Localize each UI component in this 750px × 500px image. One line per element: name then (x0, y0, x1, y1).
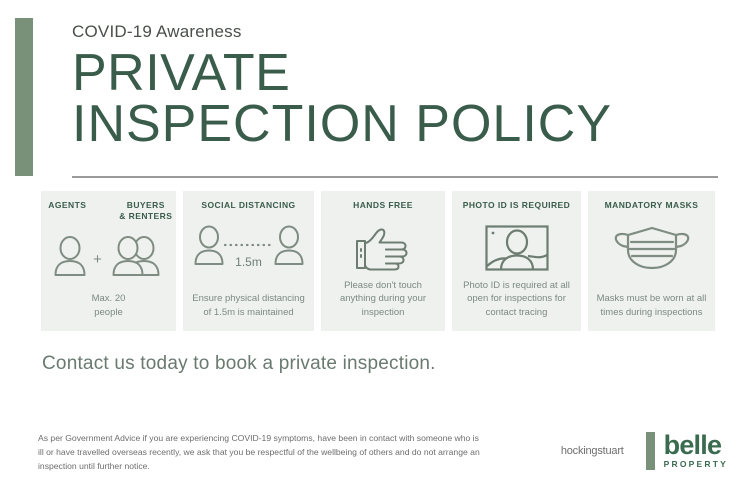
footer-disclaimer: As per Government Advice if you are expe… (38, 432, 483, 474)
covid-policy-poster: COVID-19 Awareness PRIVATE INSPECTION PO… (0, 0, 750, 500)
id-card-icon (485, 225, 549, 271)
card-masks-icons (588, 225, 715, 271)
card-heading-social-distancing: SOCIAL DISTANCING (201, 200, 295, 211)
card-heading-buyers-line2: & RENTERS (116, 211, 176, 222)
plus-icon: + (93, 252, 102, 267)
eyebrow-text: COVID-19 Awareness (72, 22, 732, 42)
header: COVID-19 Awareness PRIVATE INSPECTION PO… (72, 22, 732, 149)
distance-label: 1.5m (183, 255, 314, 269)
policy-cards: AGENTS BUYERS & RENTERS + (41, 191, 718, 331)
header-divider (72, 176, 718, 178)
card-heading-masks: MANDATORY MASKS (605, 200, 699, 211)
card-agents-headings: AGENTS BUYERS & RENTERS (41, 200, 176, 222)
accent-bar (15, 18, 33, 176)
belle-logo-word: belle (664, 433, 722, 458)
card-agents-icons: + (41, 236, 176, 276)
card-hands-icons (321, 225, 445, 271)
hand-icon (352, 225, 414, 271)
card-heading-photo-id: PHOTO ID IS REQUIRED (463, 200, 571, 211)
belle-property-logo: belle PROPERTY (646, 432, 728, 470)
card-heading-hands-free: HANDS FREE (353, 200, 413, 211)
card-hands-free: HANDS FREE Please don't touch anything d… (321, 191, 445, 331)
title-line-1: PRIVATE (72, 44, 290, 102)
card-masks-body: Masks must be worn at all times during i… (588, 292, 715, 320)
card-heading-agents: AGENTS (41, 200, 94, 222)
card-agents-buyers: AGENTS BUYERS & RENTERS + (41, 191, 176, 331)
card-heading-buyers: BUYERS & RENTERS (116, 200, 176, 222)
person-icon (53, 236, 87, 276)
belle-logo-bar (646, 432, 655, 470)
hockingstuart-logo: hockingstuart (561, 445, 624, 457)
card-hands-body: Please don't touch anything during your … (321, 279, 445, 320)
card-agents-body: Max. 20 people (84, 292, 134, 320)
page-title: PRIVATE INSPECTION POLICY (72, 48, 732, 149)
card-photo-icons (452, 225, 581, 271)
title-line-2: INSPECTION POLICY (72, 99, 732, 149)
face-mask-icon (614, 225, 690, 271)
card-distancing-icons: 1.5m (183, 225, 314, 265)
card-photo-id: PHOTO ID IS REQUIRED Photo ID is require… (452, 191, 581, 331)
card-social-distancing: SOCIAL DISTANCING 1.5m Ensure physical d… (183, 191, 314, 331)
belle-logo-sub: PROPERTY (664, 459, 728, 469)
card-heading-buyers-line1: BUYERS (116, 200, 176, 211)
cta-text: Contact us today to book a private inspe… (42, 353, 436, 375)
footer-logos: hockingstuart belle PROPERTY (561, 432, 728, 470)
card-mandatory-masks: MANDATORY MASKS Masks must be worn at al… (588, 191, 715, 331)
two-people-icon (108, 236, 164, 276)
card-photo-body: Photo ID is required at all open for ins… (452, 279, 581, 320)
card-distancing-body: Ensure physical distancing of 1.5m is ma… (183, 292, 314, 320)
belle-logo-text: belle PROPERTY (664, 433, 728, 470)
